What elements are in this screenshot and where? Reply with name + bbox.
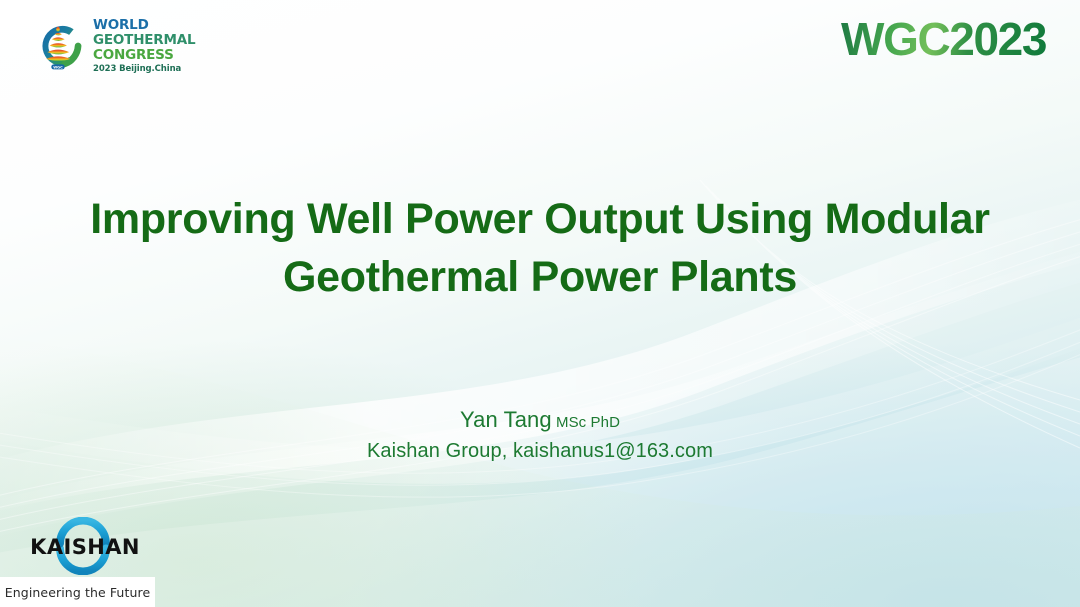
logo-line-place: 2023 Beijing.China bbox=[93, 65, 195, 74]
author-line: Yan Tang MSc PhD bbox=[0, 406, 1080, 437]
author-name: Yan Tang bbox=[460, 407, 552, 432]
logo-line-geothermal: GEOTHERMAL bbox=[93, 34, 195, 48]
company-tagline: Engineering the Future bbox=[5, 585, 150, 600]
company-logo-mark: KAISHAN bbox=[22, 515, 148, 577]
wgc2023-wordmark: WGC2023 bbox=[841, 16, 1046, 62]
conference-logo: WGC WORLD GEOTHERMAL CONGRESS 2023 Beiji… bbox=[30, 17, 195, 75]
author-degrees: MSc PhD bbox=[552, 414, 620, 431]
svg-text:WGC: WGC bbox=[53, 65, 63, 69]
author-block: Yan Tang MSc PhD Kaishan Group, kaishanu… bbox=[0, 406, 1080, 465]
presentation-slide: WGC WORLD GEOTHERMAL CONGRESS 2023 Beiji… bbox=[0, 0, 1080, 607]
title-line-1: Improving Well Power Output Using Modula… bbox=[22, 190, 1058, 248]
conference-logo-text: WORLD GEOTHERMAL CONGRESS 2023 Beijing.C… bbox=[93, 19, 195, 74]
company-name: KAISHAN bbox=[22, 537, 148, 558]
company-logo: KAISHAN Engineering the Future bbox=[0, 515, 168, 607]
logo-line-congress: CONGRESS bbox=[93, 49, 195, 63]
logo-line-world: WORLD bbox=[93, 19, 195, 33]
author-affiliation: Kaishan Group, kaishanus1@163.com bbox=[0, 437, 1080, 465]
title-line-2: Geothermal Power Plants bbox=[22, 248, 1058, 306]
wgc-emblem-icon: WGC bbox=[30, 17, 86, 75]
company-tagline-band: Engineering the Future bbox=[0, 577, 155, 607]
page-title: Improving Well Power Output Using Modula… bbox=[0, 190, 1080, 306]
